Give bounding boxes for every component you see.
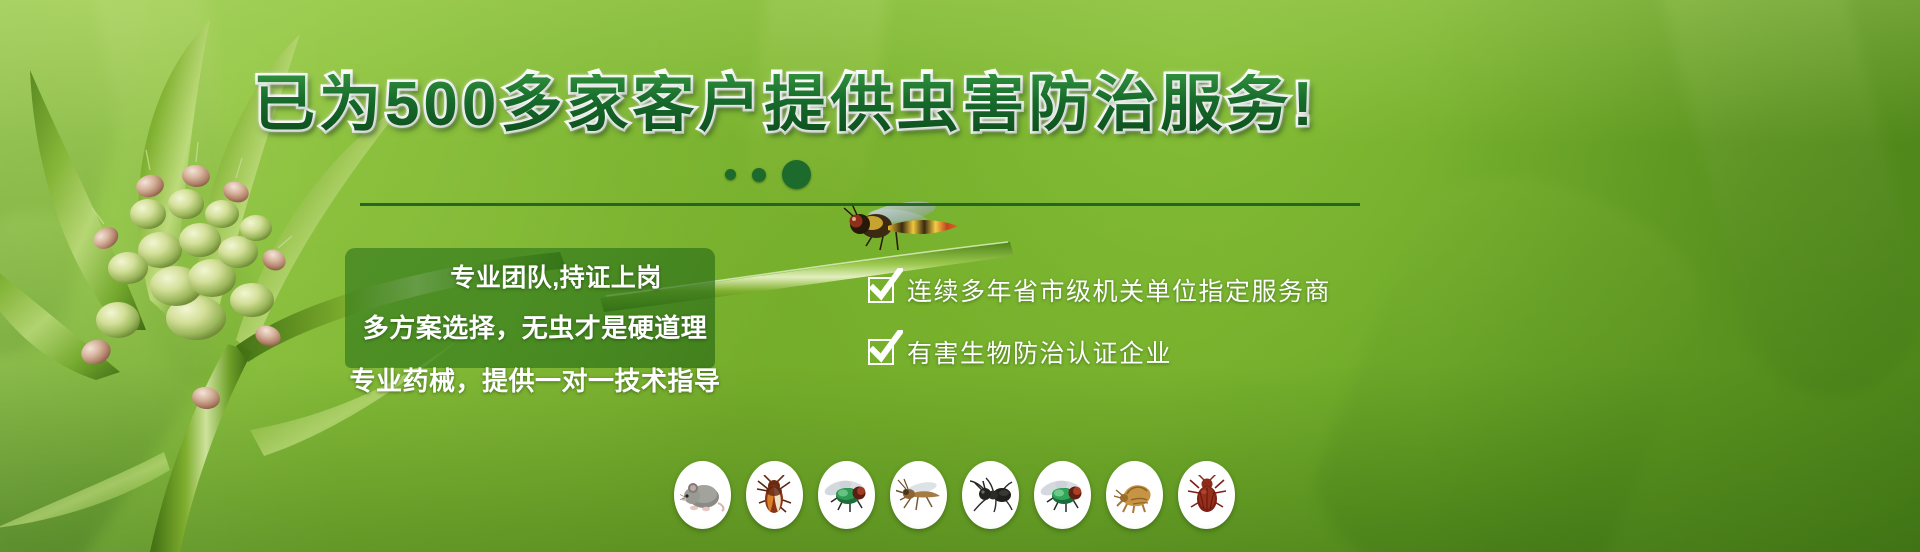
promo-banner: 已为500多家客户提供虫害防治服务! 已为500多家客户提供虫害防治服务! 专业…: [0, 0, 1920, 552]
feature-line-2: 多方案选择，无虫才是硬道理: [300, 308, 770, 345]
pest-icon-bedbug[interactable]: [1178, 461, 1235, 529]
list-item: 连续多年省市级机关单位指定服务商: [868, 272, 1331, 308]
pest-icon-cockroach[interactable]: [746, 461, 803, 529]
pest-icon-row: [674, 461, 1235, 529]
pest-icon-flea[interactable]: [1106, 461, 1163, 529]
feature-line-3: 专业药械，提供一对一技术指导: [300, 361, 770, 398]
pest-icon-ant[interactable]: [962, 461, 1019, 529]
dot-large-icon: [782, 160, 811, 189]
pest-icon-fly[interactable]: [818, 461, 875, 529]
dot-small-icon: [725, 169, 736, 180]
decor-dots: [725, 160, 811, 189]
checkbox-checked-icon: [868, 339, 894, 365]
credentials-list: 连续多年省市级机关单位指定服务商 有害生物防治认证企业: [868, 272, 1331, 396]
checkbox-checked-icon: [868, 277, 894, 303]
feature-line-1: 专业团队,持证上岗: [342, 258, 770, 294]
pest-icon-mosquito[interactable]: [890, 461, 947, 529]
credential-label: 有害生物防治认证企业: [907, 334, 1172, 370]
pest-icon-fly-green[interactable]: [1034, 461, 1091, 529]
list-item: 有害生物防治认证企业: [868, 334, 1331, 370]
page-title: 已为500多家客户提供虫害防治服务!: [0, 74, 1570, 136]
credential-label: 连续多年省市级机关单位指定服务商: [907, 272, 1331, 308]
divider: [360, 203, 1360, 206]
pest-icon-mouse[interactable]: [674, 461, 731, 529]
feature-panel-text: 专业团队,持证上岗 多方案选择，无虫才是硬道理 专业药械，提供一对一技术指导: [300, 258, 770, 398]
dot-medium-icon: [752, 168, 766, 182]
